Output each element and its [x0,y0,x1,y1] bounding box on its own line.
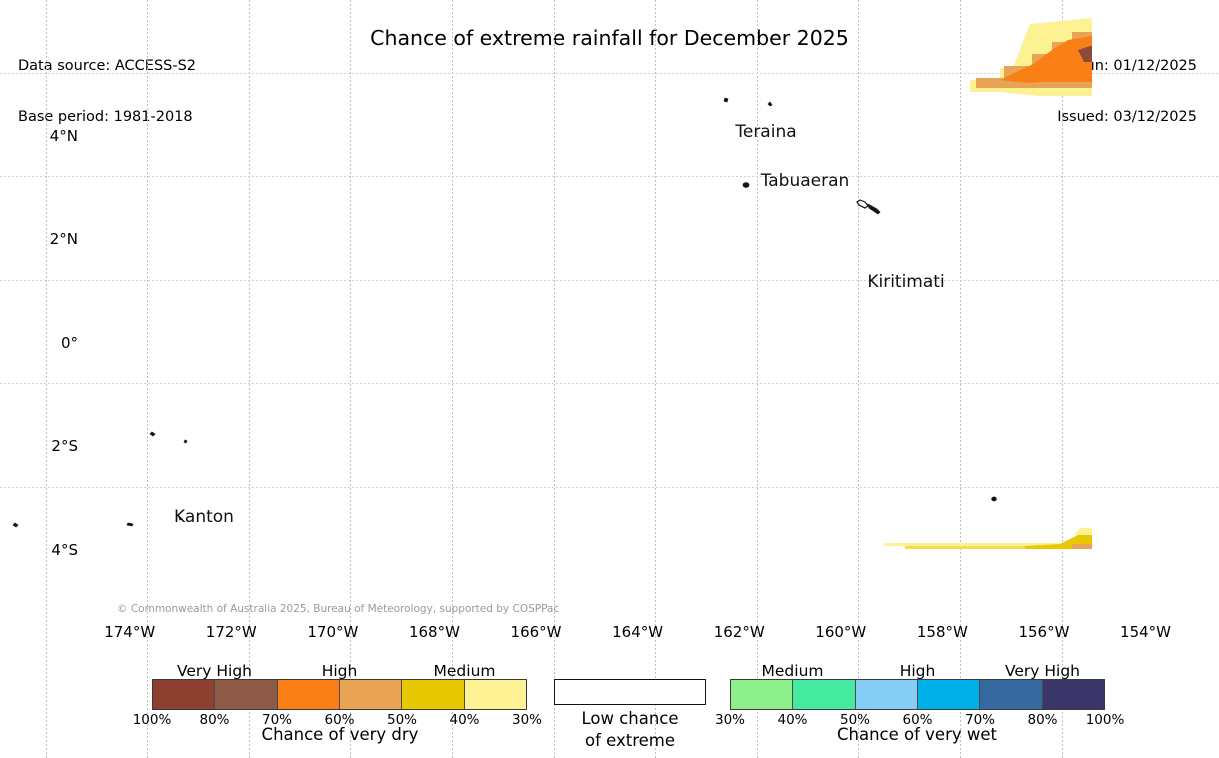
colorbar-segment[interactable] [1043,680,1104,709]
x-axis-tick-label: 158°W [917,623,968,641]
colorbar-very-wet[interactable] [730,679,1105,710]
colorbar-very-dry-caption: Chance of very dry [262,725,419,744]
y-axis-tick-label: 0° [61,334,78,352]
colorbar-tick-label: 80% [199,712,229,728]
y-axis-tick-label: 4°N [50,127,78,145]
y-axis-tick-label: 4°S [51,541,78,559]
colorbar-segment[interactable] [215,680,277,709]
x-axis-tick-label: 164°W [612,623,663,641]
colorbar-segment[interactable] [856,680,918,709]
colorbar-category-label: High [900,662,936,680]
colorbar-very-dry[interactable] [152,679,527,710]
colorbar-segment[interactable] [402,680,464,709]
colorbar-category-label: Very High [1005,662,1080,680]
colorbar-category-label: Very High [177,662,252,680]
map-place-label: Tabuaeran [761,171,850,191]
map-place-label: Kiritimati [867,272,944,292]
colorbar-category-label: Medium [762,662,824,680]
x-axis-tick-label: 162°W [714,623,765,641]
colorbar-segment[interactable] [731,680,793,709]
colorbar-category-label: Medium [434,662,496,680]
colorbar-category-label: High [322,662,358,680]
y-axis-tick-label: 2°N [50,230,78,248]
x-axis-tick-label: 174°W [104,623,155,641]
low-chance-swatch[interactable] [554,679,706,705]
y-axis-tick-label: 2°S [51,437,78,455]
x-axis-tick-label: 166°W [511,623,562,641]
x-axis-tick-label: 168°W [409,623,460,641]
colorbar-segment[interactable] [278,680,340,709]
colorbar-tick-label: 80% [1027,712,1057,728]
colorbar-tick-label: 100% [1086,712,1125,728]
colorbar-segment[interactable] [793,680,855,709]
colorbar-segment[interactable] [980,680,1042,709]
colorbar-tick-label: 40% [777,712,807,728]
colorbar-tick-label: 100% [133,712,172,728]
colorbar-segment[interactable] [153,680,215,709]
colorbar-very-wet-caption: Chance of very wet [837,725,997,744]
low-chance-line2: of extreme [581,730,678,752]
map-place-label: Teraina [735,122,796,142]
low-chance-line1: Low chance [581,708,678,730]
x-axis-tick-label: 160°W [815,623,866,641]
colorbar-tick-label: 30% [715,712,745,728]
colorbar-segment[interactable] [465,680,526,709]
map-place-label: Kanton [174,507,234,527]
colorbar-segment[interactable] [918,680,980,709]
x-axis-tick-label: 170°W [307,623,358,641]
colorbar-segment[interactable] [340,680,402,709]
copyright-notice: © Commonwealth of Australia 2025, Bureau… [117,603,559,615]
x-axis-tick-label: 156°W [1018,623,1069,641]
colorbar-tick-label: 40% [449,712,479,728]
x-axis-tick-label: 154°W [1120,623,1171,641]
low-chance-label: Low chance of extreme [581,708,678,752]
x-axis-tick-label: 172°W [206,623,257,641]
colorbar-tick-label: 30% [512,712,542,728]
